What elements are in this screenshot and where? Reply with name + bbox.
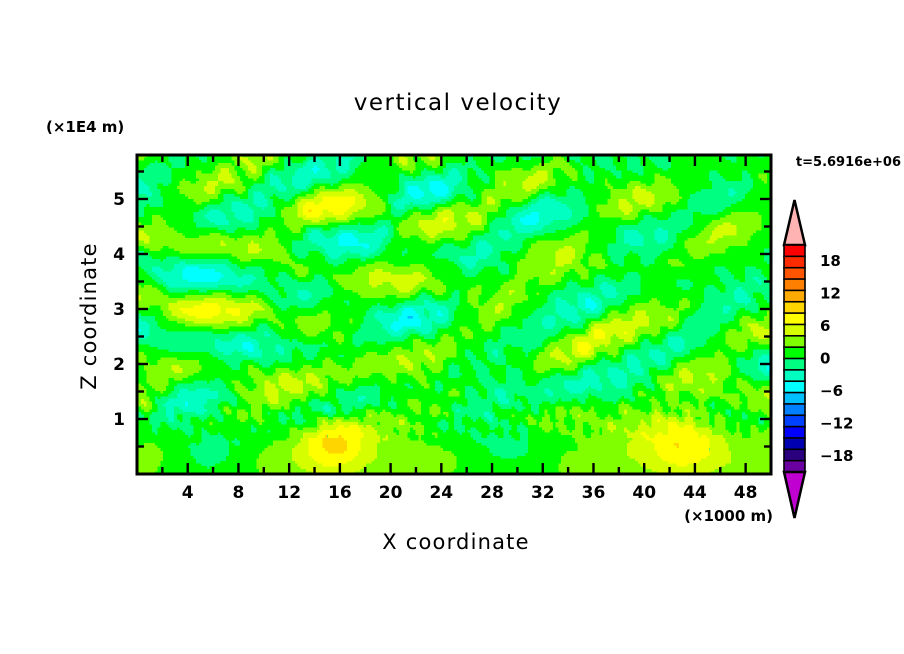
x-tick-label: 32 [531, 483, 555, 503]
colorbar-band [784, 393, 805, 405]
x-tick-label: 20 [379, 483, 403, 503]
contour-field [136, 152, 773, 474]
colorbar-band [784, 279, 805, 291]
colorbar-band [784, 302, 805, 314]
y-axis-title: Z coordinate [77, 242, 101, 389]
colorbar-tick-label: 0 [820, 350, 830, 368]
x-tick-label: 4 [182, 483, 194, 503]
colorbar-tick-label: −18 [820, 447, 853, 465]
y-tick-label: 4 [113, 245, 125, 265]
colorbar [784, 200, 805, 518]
time-annotation: t=5.6916e+06 [796, 155, 901, 170]
x-tick-label: 48 [734, 483, 758, 503]
colorbar-band [784, 438, 805, 450]
x-tick-label: 12 [277, 483, 301, 503]
colorbar-band [784, 268, 805, 280]
x-tick-label: 16 [328, 483, 352, 503]
colorbar-tick-label: −6 [820, 382, 843, 400]
colorbar-band [784, 427, 805, 439]
x-unit-label: (×1000 m) [684, 507, 773, 525]
page-title: vertical velocity [354, 90, 562, 116]
contour-plot-figure: vertical velocity (×1E4 m) 4812162024283… [0, 0, 904, 654]
x-tick-label: 44 [683, 483, 707, 503]
colorbar-band [784, 381, 805, 393]
colorbar-band [784, 245, 805, 257]
x-tick-label: 40 [632, 483, 656, 503]
colorbar-band [784, 313, 805, 325]
colorbar-band [784, 290, 805, 302]
y-tick-label: 3 [113, 300, 125, 320]
colorbar-tick-label: 12 [820, 285, 841, 303]
colorbar-band [784, 336, 805, 348]
y-tick-label: 2 [113, 355, 125, 375]
colorbar-band [784, 449, 805, 461]
x-tick-label: 36 [582, 483, 606, 503]
x-axis-title: X coordinate [382, 530, 529, 554]
colorbar-band [784, 461, 805, 473]
colorbar-tick-label: −12 [820, 414, 853, 432]
colorbar-tick-label: 6 [820, 317, 830, 335]
y-tick-label: 1 [113, 410, 125, 430]
y-tick-label: 5 [113, 190, 125, 210]
colorbar-band [784, 324, 805, 336]
x-tick-label: 28 [480, 483, 504, 503]
colorbar-band [784, 347, 805, 359]
colorbar-band [784, 415, 805, 427]
colorbar-tick-label: 18 [820, 252, 841, 270]
x-tick-label: 8 [232, 483, 244, 503]
y-unit-label: (×1E4 m) [46, 118, 124, 136]
colorbar-band [784, 370, 805, 382]
colorbar-band [784, 359, 805, 371]
colorbar-band [784, 256, 805, 268]
x-tick-label: 24 [429, 483, 453, 503]
colorbar-band [784, 404, 805, 416]
